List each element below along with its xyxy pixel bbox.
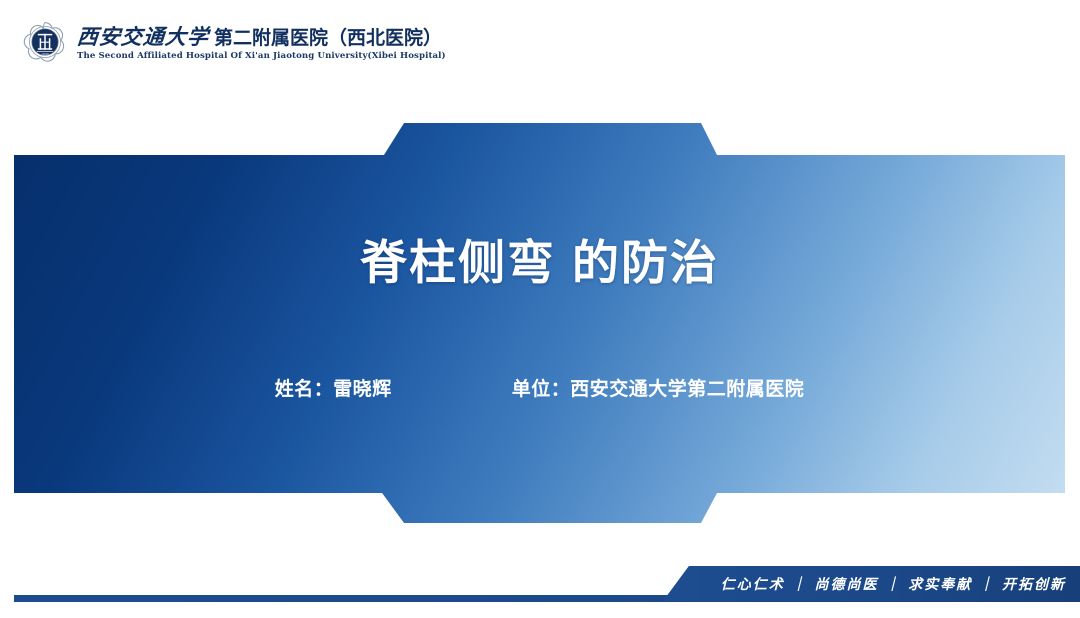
hospital-name-cn: 第二附属医院（西北医院） (214, 29, 442, 49)
hospital-wordmark: 西安交通大学 第二附属医院（西北医院） The Second Affiliate… (77, 26, 446, 62)
hospital-slogan-text: 仁心仁术 ｜ 尚德尚医 ｜ 求实奉献 ｜ 开拓创新 (721, 574, 1066, 594)
svg-text:1896: 1896 (41, 52, 49, 56)
title-banner-content: 脊柱侧弯的防治 姓名：雷晓辉 单位：西安交通大学第二附属医院 (14, 122, 1065, 524)
hospital-name-en: The Second Affiliated Hospital Of Xi'an … (77, 51, 446, 61)
presenter-name: 雷晓辉 (333, 378, 392, 400)
presenter-block: 姓名：雷晓辉 (275, 374, 392, 401)
page-title-main: 脊柱侧弯 (360, 236, 556, 291)
hospital-slogan-band: 仁心仁术 ｜ 尚德尚医 ｜ 求实奉献 ｜ 开拓创新 (663, 566, 1080, 601)
hospital-logo-lockup: 1896 西安交通大学 第二附属医院（西北医院） The Second Affi… (22, 20, 446, 66)
university-name-cn: 西安交通大学 (76, 26, 210, 48)
affiliation-block: 单位：西安交通大学第二附属医院 (512, 374, 805, 401)
page-title: 脊柱侧弯的防治 (14, 238, 1065, 290)
affiliation-label: 单位： (512, 378, 571, 400)
presenter-meta-row: 姓名：雷晓辉 单位：西安交通大学第二附属医院 (14, 374, 1065, 401)
title-banner: 脊柱侧弯的防治 姓名：雷晓辉 单位：西安交通大学第二附属医院 (14, 122, 1065, 524)
presentation-title-slide: 1896 西安交通大学 第二附属医院（西北医院） The Second Affi… (0, 0, 1080, 618)
page-title-sub: 的防治 (572, 236, 719, 291)
university-emblem-icon: 1896 (22, 20, 68, 66)
affiliation-name: 西安交通大学第二附属医院 (570, 378, 804, 400)
presenter-label: 姓名： (275, 378, 334, 400)
